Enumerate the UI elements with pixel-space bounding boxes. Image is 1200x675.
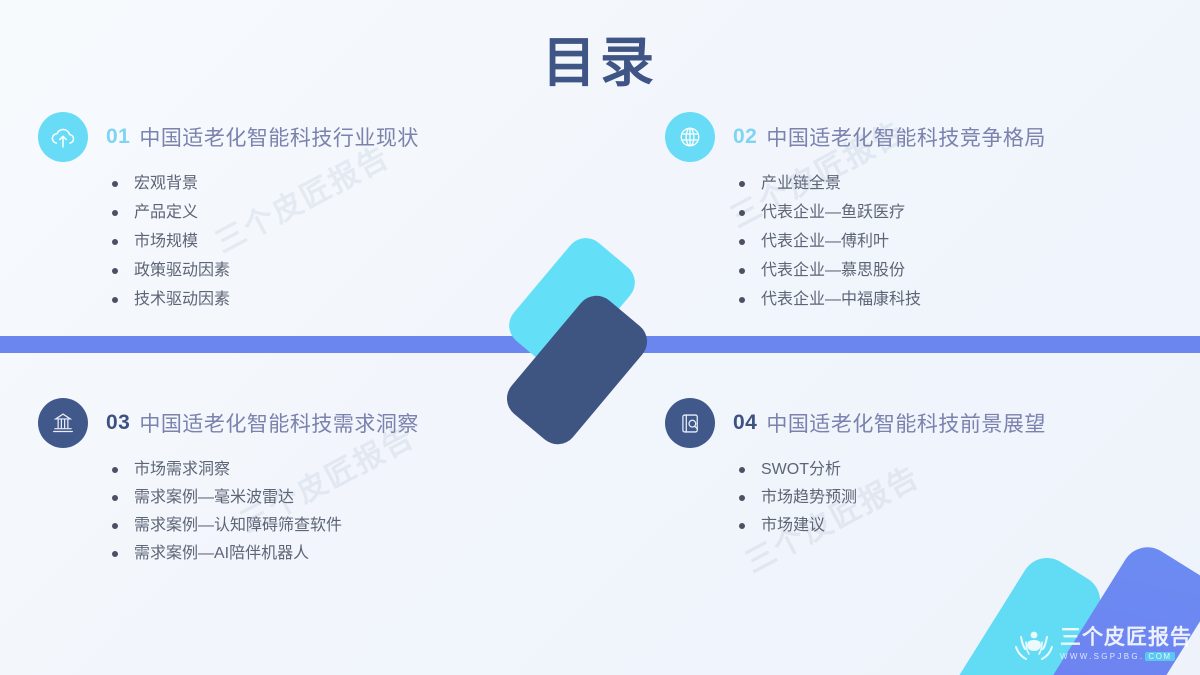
list-item[interactable]: SWOT分析	[735, 462, 1185, 478]
bank-building-icon	[38, 398, 88, 448]
brand-text-block: 三个皮匠报告 WWW.SGPJBG. COM	[1060, 627, 1192, 660]
section-02[interactable]: 02 中国适老化智能科技竞争格局 产业链全景 代表企业—鱼跃医疗 代表企业—傅利…	[665, 112, 1185, 321]
brand-url: WWW.SGPJBG. COM	[1060, 652, 1192, 661]
list-item[interactable]: 代表企业—傅利叶	[735, 234, 1185, 250]
list-item[interactable]: 市场趋势预测	[735, 490, 1185, 506]
list-item[interactable]: 代表企业—鱼跃医疗	[735, 205, 1185, 221]
list-item[interactable]: 市场规模	[108, 234, 558, 250]
section-03-number: 03	[106, 411, 130, 435]
section-01[interactable]: 01 中国适老化智能科技行业现状 宏观背景 产品定义 市场规模 政策驱动因素 技…	[38, 112, 558, 321]
section-02-title: 中国适老化智能科技竞争格局	[766, 122, 1046, 152]
section-01-header[interactable]: 01 中国适老化智能科技行业现状	[38, 112, 558, 162]
list-item[interactable]: 代表企业—中福康科技	[735, 292, 1185, 308]
section-03-title: 中国适老化智能科技需求洞察	[139, 408, 419, 438]
section-01-number: 01	[106, 125, 130, 149]
section-04-header[interactable]: 04 中国适老化智能科技前景展望	[665, 398, 1185, 448]
section-03-header[interactable]: 03 中国适老化智能科技需求洞察	[38, 398, 558, 448]
section-01-list: 宏观背景 产品定义 市场规模 政策驱动因素 技术驱动因素	[38, 176, 558, 308]
list-item[interactable]: 需求案例—认知障碍筛查软件	[108, 518, 558, 534]
list-item[interactable]: 需求案例—AI陪伴机器人	[108, 546, 558, 562]
section-02-number: 02	[733, 125, 757, 149]
section-04[interactable]: 04 中国适老化智能科技前景展望 SWOT分析 市场趋势预测 市场建议	[665, 398, 1185, 546]
list-item[interactable]: 宏观背景	[108, 176, 558, 192]
section-03[interactable]: 03 中国适老化智能科技需求洞察 市场需求洞察 需求案例—毫米波雷达 需求案例—…	[38, 398, 558, 574]
section-01-title: 中国适老化智能科技行业现状	[139, 122, 419, 152]
list-item[interactable]: 技术驱动因素	[108, 292, 558, 308]
section-04-list: SWOT分析 市场趋势预测 市场建议	[665, 462, 1185, 534]
list-item[interactable]: 政策驱动因素	[108, 263, 558, 279]
section-02-list: 产业链全景 代表企业—鱼跃医疗 代表企业—傅利叶 代表企业—慕思股份 代表企业—…	[665, 176, 1185, 308]
list-item[interactable]: 市场需求洞察	[108, 462, 558, 478]
section-04-title: 中国适老化智能科技前景展望	[766, 408, 1046, 438]
slide-canvas: 三个皮匠报告 三个皮匠报告 三个皮匠报告 三个皮匠报告 目录 01 中国适老化智…	[0, 0, 1200, 675]
cloud-upload-icon	[38, 112, 88, 162]
section-02-header[interactable]: 02 中国适老化智能科技竞争格局	[665, 112, 1185, 162]
section-03-list: 市场需求洞察 需求案例—毫米波雷达 需求案例—认知障碍筛查软件 需求案例—AI陪…	[38, 462, 558, 562]
document-search-icon	[665, 398, 715, 448]
list-item[interactable]: 需求案例—毫米波雷达	[108, 490, 558, 506]
brand-url-suffix: COM	[1145, 652, 1174, 661]
list-item[interactable]: 市场建议	[735, 518, 1185, 534]
list-item[interactable]: 代表企业—慕思股份	[735, 263, 1185, 279]
page-title: 目录	[0, 18, 1200, 97]
brand-logo: 三个皮匠报告 WWW.SGPJBG. COM	[1012, 624, 1192, 664]
brand-name: 三个皮匠报告	[1060, 627, 1192, 649]
brand-url-base: WWW.SGPJBG.	[1060, 652, 1144, 661]
section-04-number: 04	[733, 411, 757, 435]
globe-icon	[665, 112, 715, 162]
list-item[interactable]: 产业链全景	[735, 176, 1185, 192]
list-item[interactable]: 产品定义	[108, 205, 558, 221]
brand-mark-icon	[1012, 624, 1056, 664]
